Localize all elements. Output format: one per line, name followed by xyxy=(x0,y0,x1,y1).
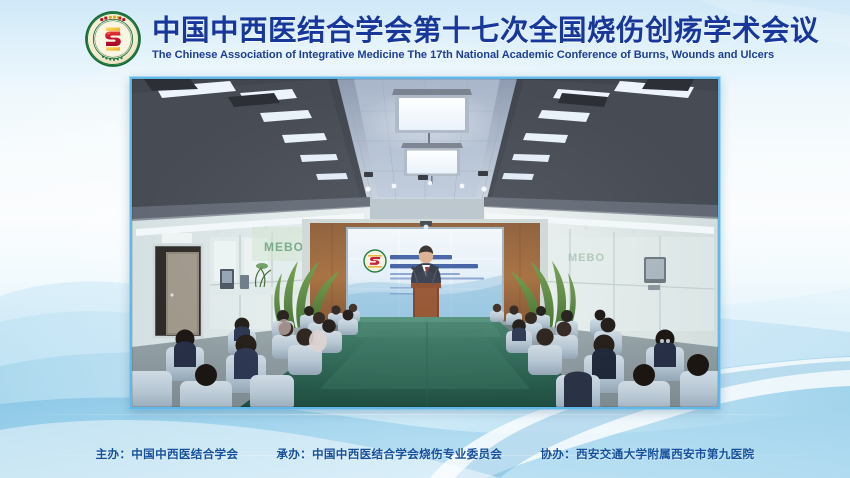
footer-organizer: 主办：中国中西医结合学会 xyxy=(96,446,239,462)
association-logo xyxy=(84,10,142,68)
page-title: 中国中西医结合学会第十七次全国烧伤创疡学术会议 xyxy=(152,15,819,46)
title-block: 中国中西医结合学会第十七次全国烧伤创疡学术会议 The Chinese Asso… xyxy=(152,15,819,61)
conference-photo-frame: MEBO MEBO xyxy=(130,77,720,409)
footer-co-organizer: 协办：西安交通大学附属西安市第九医院 xyxy=(540,446,754,462)
page-subtitle: The Chinese Association of Integrative M… xyxy=(152,49,819,61)
slide-header: 中国中西医结合学会第十七次全国烧伤创疡学术会议 The Chinese Asso… xyxy=(0,0,850,76)
footer-credits: 主办：中国中西医结合学会 承办：中国中西医结合学会烧伤专业委员会 协办：西安交通… xyxy=(96,446,755,462)
footer-undertaker: 承办：中国中西医结合学会烧伤专业委员会 xyxy=(276,446,502,462)
conference-hall-photo: MEBO MEBO xyxy=(132,79,718,407)
integrative-medicine-emblem-icon xyxy=(84,10,142,68)
slide-footer: 主办：中国中西医结合学会 承办：中国中西医结合学会烧伤专业委员会 协办：西安交通… xyxy=(0,430,850,478)
slide-canvas: 中国中西医结合学会第十七次全国烧伤创疡学术会议 The Chinese Asso… xyxy=(0,0,850,478)
